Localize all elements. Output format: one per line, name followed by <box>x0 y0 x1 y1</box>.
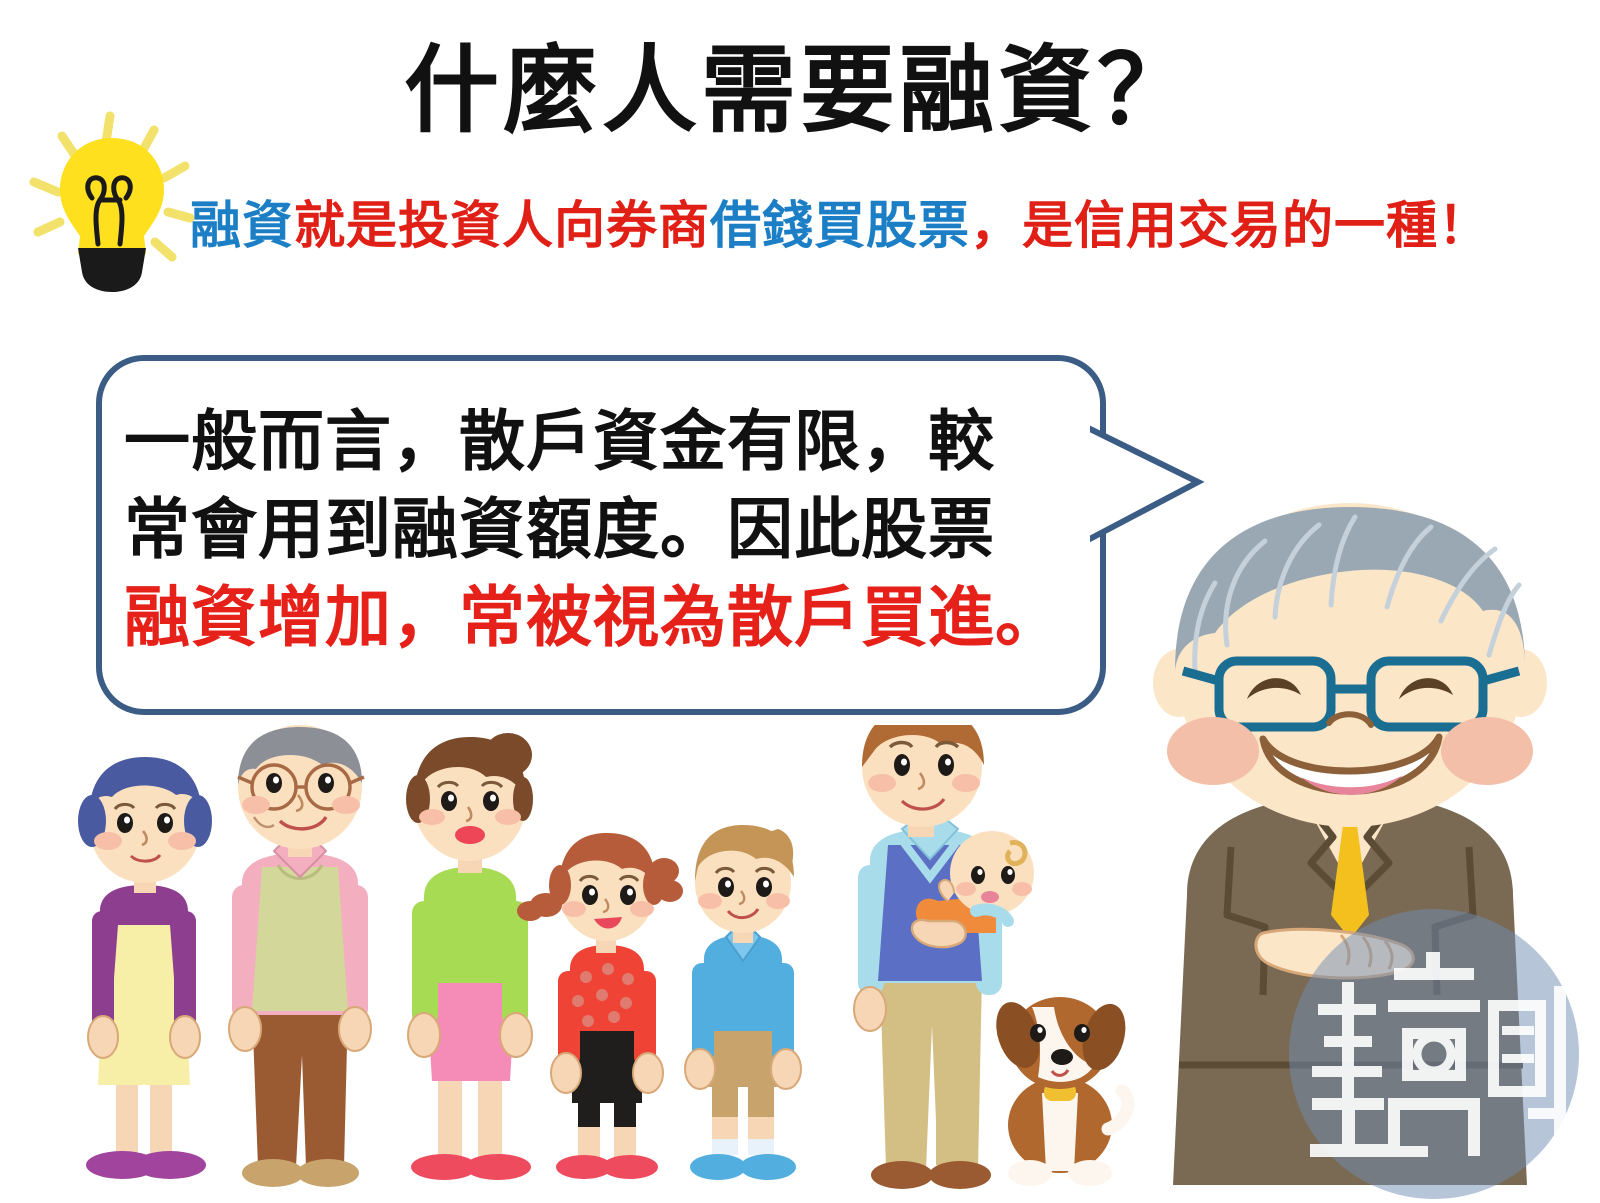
bubble-line-3: 融資增加，常被視為散戶買進。 <box>124 574 1104 662</box>
subtitle-segment-4: ，是信用交易的一種！ <box>970 197 1490 256</box>
subtitle-segment-3: 借錢買股票 <box>710 197 970 256</box>
figure-girl <box>517 833 683 1179</box>
family-illustration <box>30 725 1150 1203</box>
bubble-line-1: 一般而言，散戶資金有限，較 <box>124 398 1104 486</box>
figure-boy <box>685 825 801 1180</box>
subtitle-segment-1: 融資 <box>190 197 294 256</box>
speech-bubble-text: 一般而言，散戶資金有限，較 常會用到融資額度。因此股票 融資增加，常被視為散戶買… <box>124 398 1104 661</box>
figure-dog <box>988 996 1132 1186</box>
figure-father <box>854 725 1034 1189</box>
page-subtitle: 融資就是投資人向券商借錢買股票，是信用交易的一種！ <box>190 198 1510 257</box>
figure-grandfather <box>229 725 371 1187</box>
subtitle-segment-2: 就是投資人向券商 <box>294 197 710 256</box>
bubble-line-2: 常會用到融資額度。因此股票 <box>124 486 1104 574</box>
watermark-mirror-media <box>1288 908 1580 1200</box>
page-title: 什麼人需要融資？ <box>0 42 1600 142</box>
infographic-canvas: 什麼人需要融資？ 融資就是投資人向券商借錢買股票，是信用交易的一種！ 一般而言，… <box>0 0 1600 1200</box>
figure-mother <box>406 733 533 1180</box>
figure-grandmother <box>78 757 212 1179</box>
